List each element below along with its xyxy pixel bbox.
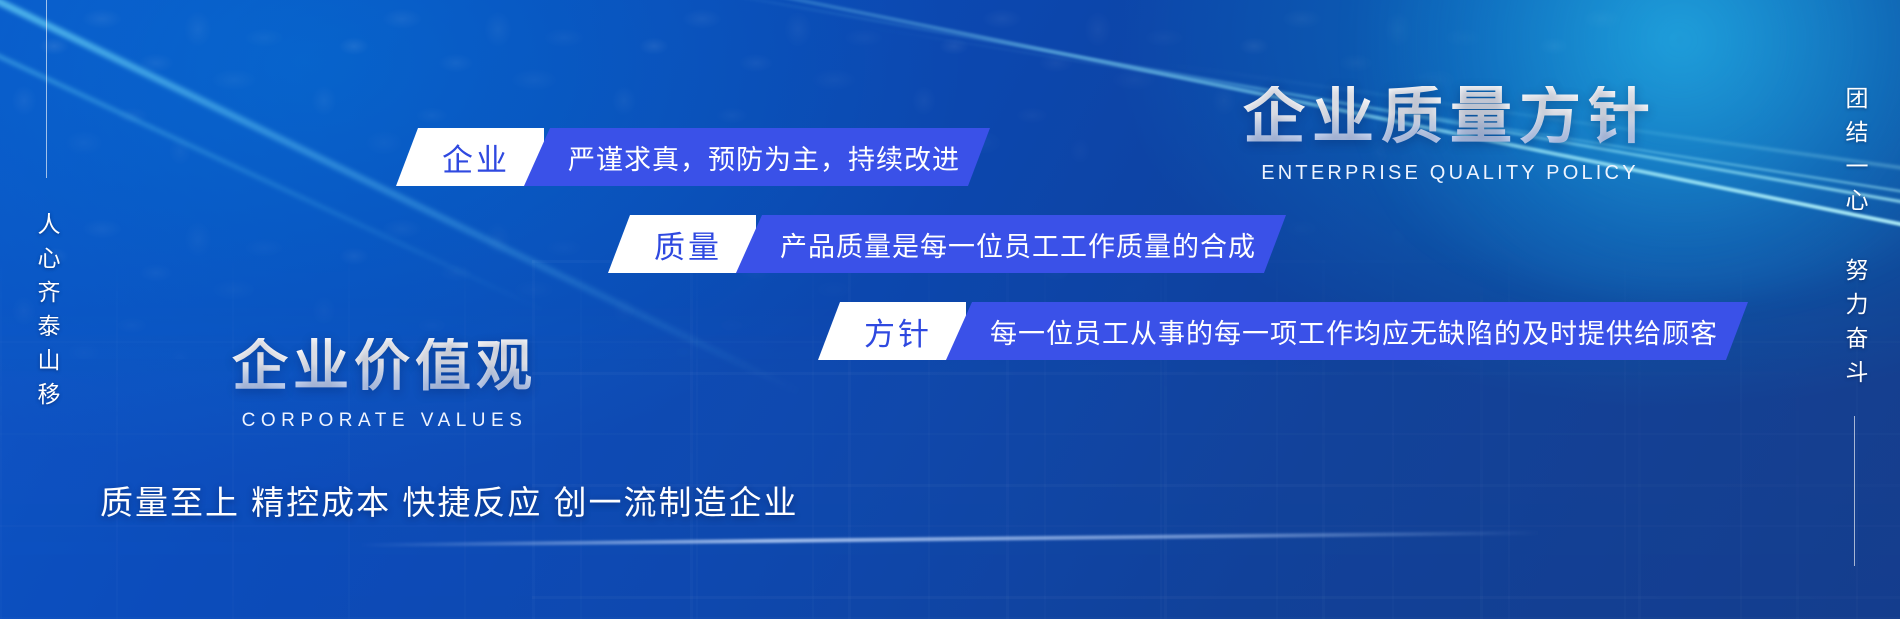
policy-row-text: 严谨求真，预防为主，持续改进	[568, 138, 960, 177]
policy-row-text: 每一位员工从事的每一项工作均应无缺陷的及时提供给顾客	[990, 312, 1718, 351]
policy-row-tag: 质量	[608, 215, 756, 273]
policy-row: 方针 每一位员工从事的每一项工作均应无缺陷的及时提供给顾客	[818, 302, 1748, 360]
bar-notch-triangle-icon	[940, 186, 960, 196]
policy-row-tag-label: 企业	[442, 135, 510, 180]
values-heading-en: CORPORATE VALUES	[232, 410, 537, 432]
values-heading-block: 企业价值观 CORPORATE VALUES	[232, 338, 537, 432]
tag-notch-triangle-icon	[412, 186, 432, 197]
policy-row-text: 产品质量是每一位员工工作质量的合成	[780, 225, 1256, 264]
policy-row-bar: 产品质量是每一位员工工作质量的合成	[736, 215, 1286, 273]
policy-row: 质量 产品质量是每一位员工工作质量的合成	[608, 215, 1286, 273]
policy-heading-en: ENTERPRISE QUALITY POLICY	[1190, 162, 1710, 185]
policy-row: 企业 严谨求真，预防为主，持续改进	[396, 128, 990, 186]
policy-heading-block: 企业质量方针 ENTERPRISE QUALITY POLICY	[1190, 86, 1710, 185]
tag-notch-triangle-icon	[624, 273, 644, 284]
right-vertical-slogan: 团结一心 努力奋斗	[1837, 86, 1871, 394]
policy-row-tag-label: 方针	[864, 309, 932, 354]
policy-heading-cn: 企业质量方针	[1190, 86, 1710, 148]
corporate-values-banner: 人心齐泰山移 团结一心 努力奋斗 企业质量方针 ENTERPRISE QUALI…	[0, 0, 1900, 619]
policy-row-tag: 方针	[818, 302, 966, 360]
values-heading-cn: 企业价值观	[232, 338, 537, 394]
vertical-divider-line	[46, 0, 47, 178]
right-vertical-rail: 团结一心 努力奋斗	[1808, 0, 1900, 619]
horizontal-streak-icon	[360, 531, 1540, 547]
values-tagline: 质量至上 精控成本 快捷反应 创一流制造企业	[100, 476, 799, 524]
bar-notch-triangle-icon	[1236, 273, 1256, 283]
policy-row-bar: 严谨求真，预防为主，持续改进	[524, 128, 990, 186]
left-vertical-rail: 人心齐泰山移	[0, 0, 92, 619]
vertical-divider-line	[1854, 416, 1855, 566]
bar-notch-triangle-icon	[1698, 360, 1718, 370]
policy-row-tag-label: 质量	[654, 222, 722, 267]
left-vertical-slogan: 人心齐泰山移	[29, 212, 63, 416]
policy-row-bar: 每一位员工从事的每一项工作均应无缺陷的及时提供给顾客	[946, 302, 1748, 360]
policy-row-tag: 企业	[396, 128, 544, 186]
tag-notch-triangle-icon	[834, 360, 854, 371]
